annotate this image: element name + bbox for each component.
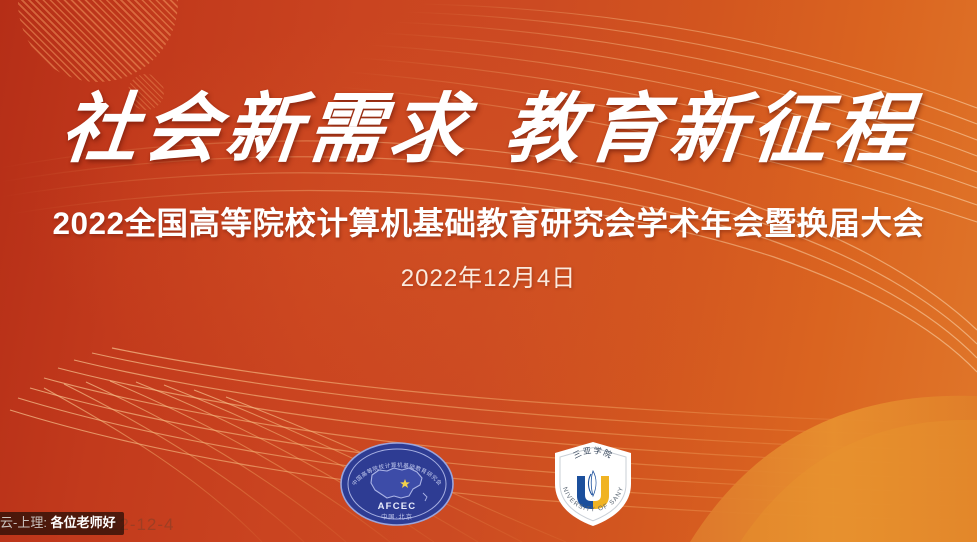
afcec-footer-text: 中国·北京 xyxy=(381,513,413,521)
afcec-acronym: AFCEC xyxy=(377,501,416,512)
main-title-part-1: 社会新需求 xyxy=(57,88,476,172)
chat-message-text: 各位老师好 xyxy=(51,515,116,530)
afcec-seal-icon: 中国高等院校计算机基础教育研究会 AFCEC 中国·北京 xyxy=(339,441,455,527)
university-of-sanya-logo: 三亚学院 UNIVERSITY OF SANYA xyxy=(547,438,639,535)
afcec-logo: 中国高等院校计算机基础教育研究会 AFCEC 中国·北京 xyxy=(339,441,455,532)
slide-date: 2022年12月4日 xyxy=(0,258,977,293)
presentation-slide: 社会新需求教育新征程 2022全国高等院校计算机基础教育研究会学术年会暨换届大会… xyxy=(0,0,977,542)
slide-subtitle: 2022全国高等院校计算机基础教育研究会学术年会暨换届大会 xyxy=(0,198,977,244)
slide-main-title: 社会新需求教育新征程 xyxy=(0,92,977,168)
slide-content: 社会新需求教育新征程 2022全国高等院校计算机基础教育研究会学术年会暨换届大会… xyxy=(0,0,977,542)
chat-sender-name: 云-上理: xyxy=(0,515,47,530)
chat-message-overlay: 云-上理: 各位老师好 xyxy=(0,512,124,535)
main-title-part-2: 教育新征程 xyxy=(501,88,920,172)
sanya-shield-icon: 三亚学院 UNIVERSITY OF SANYA xyxy=(547,438,639,530)
